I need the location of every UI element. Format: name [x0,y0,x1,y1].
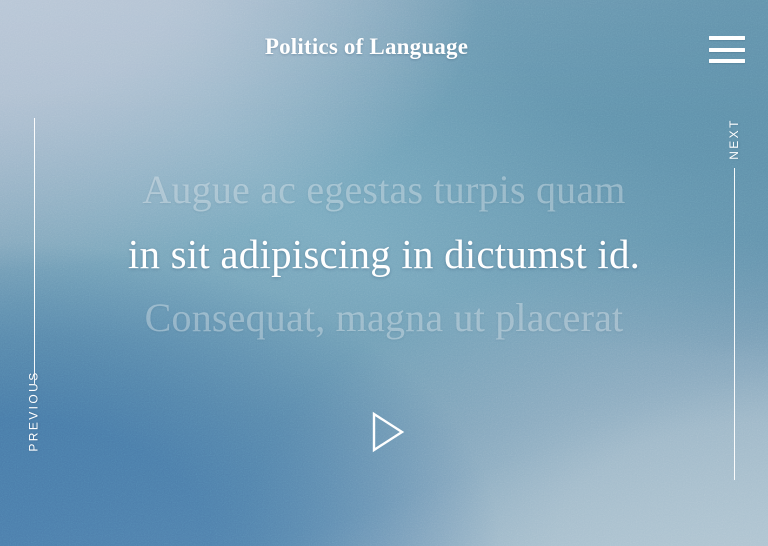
caption-block: Augue ac egestas turpis quam in sit adip… [60,158,708,350]
page-title: Politics of Language [0,34,733,60]
hamburger-menu-icon[interactable] [709,36,745,63]
slide-header: Politics of Language [0,0,768,100]
previous-slide-label: PREVIOUS [27,370,41,451]
hamburger-bar-bottom [709,59,745,63]
caption-line-previous[interactable]: Augue ac egestas turpis quam [60,158,708,222]
slide-stage: Politics of Language PREVIOUS NEXT Augue… [0,0,768,546]
next-rule-line [734,168,735,480]
play-triangle-icon[interactable] [371,411,405,453]
caption-line-current[interactable]: in sit adipiscing in dictumst id. [60,222,708,286]
previous-rule-line [34,118,35,384]
hamburger-bar-top [709,36,745,40]
caption-line-next[interactable]: Consequat, magna ut placerat [60,286,708,350]
hamburger-bar-middle [709,48,745,52]
next-slide-button[interactable]: NEXT [711,118,757,490]
previous-slide-button[interactable]: PREVIOUS [11,118,57,498]
next-slide-label: NEXT [727,118,741,160]
